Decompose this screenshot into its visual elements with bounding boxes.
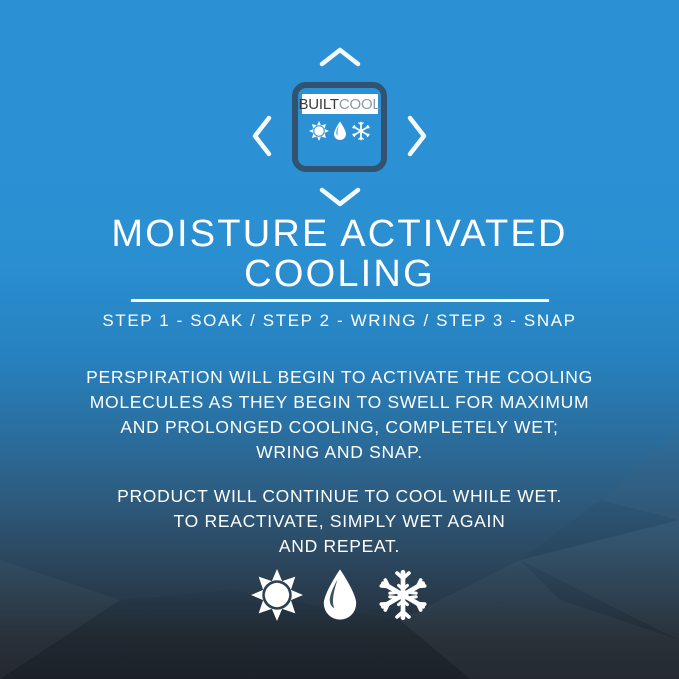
snowflake-icon xyxy=(351,121,371,141)
snowflake-icon xyxy=(377,569,429,621)
chevron-down-icon[interactable] xyxy=(316,184,364,210)
water-drop-icon xyxy=(321,568,359,622)
product-feature-panel: BUILTCOOL xyxy=(0,0,679,679)
description-paragraph-2: PRODUCT WILL CONTINUE TO COOL WHILE WET.… xyxy=(0,484,679,559)
chevron-up-icon[interactable] xyxy=(316,44,364,70)
steps-summary: STEP 1 - SOAK / STEP 2 - WRING / STEP 3 … xyxy=(0,311,679,331)
builtcool-wordmark: BUILTCOOL xyxy=(302,94,378,114)
builtcool-logo-card[interactable]: BUILTCOOL xyxy=(292,82,387,172)
sun-icon xyxy=(309,121,329,141)
wordmark-cool: COOL xyxy=(339,97,381,112)
water-drop-icon xyxy=(333,121,347,141)
chevron-right-icon[interactable] xyxy=(404,112,430,160)
wordmark-built: BUILT xyxy=(298,97,338,112)
chevron-left-icon[interactable] xyxy=(249,112,275,160)
page-title: MOISTURE ACTIVATED COOLING xyxy=(0,214,679,294)
logo-icon-row xyxy=(309,121,371,141)
divider xyxy=(131,299,549,302)
feature-icon-row xyxy=(0,568,679,622)
sun-icon xyxy=(251,569,303,621)
description-paragraph-1: PERSPIRATION WILL BEGIN TO ACTIVATE THE … xyxy=(0,365,679,465)
